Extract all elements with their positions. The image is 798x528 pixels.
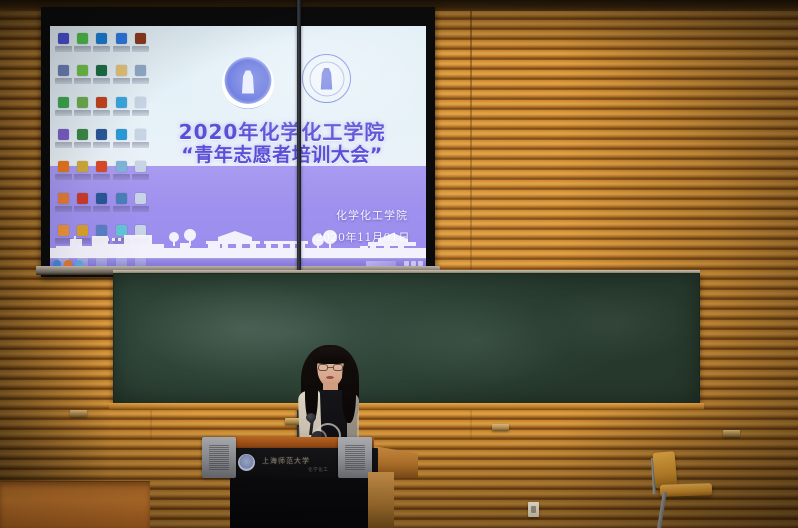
slide-heading-block: 2020年化学化工学院 “青年志愿者培训大会”: [146, 122, 418, 166]
icon-caption: [113, 78, 130, 84]
visual-studio-icon[interactable]: [92, 158, 111, 190]
word-2013-icon[interactable]: [92, 190, 111, 222]
cloud-sync-icon[interactable]: [112, 126, 131, 158]
powerpoint-icon[interactable]: [92, 94, 111, 126]
icon-glyph: [135, 65, 146, 76]
icon-caption: [55, 174, 72, 180]
icon-glyph: [116, 33, 127, 44]
icon-glyph: [116, 193, 127, 204]
icon-glyph: [135, 161, 146, 172]
firefox-icon[interactable]: [54, 158, 73, 190]
download-manager-icon[interactable]: [73, 62, 92, 94]
icon-caption: [55, 78, 72, 84]
pdf-reader-icon[interactable]: [54, 126, 73, 158]
icon-glyph: [96, 161, 107, 172]
eyeglasses: [318, 364, 343, 371]
fireworks-icon[interactable]: [73, 158, 92, 190]
icon-glyph: [96, 97, 107, 108]
icon-glyph: [116, 65, 127, 76]
icon-glyph: [58, 161, 69, 172]
icon-glyph: [58, 97, 69, 108]
icon-glyph: [135, 33, 146, 44]
university-seal-icon: [238, 454, 255, 471]
wall-power-outlet[interactable]: [528, 502, 539, 517]
icon-glyph: [58, 33, 69, 44]
icon-caption: [93, 110, 110, 116]
icon-caption: [74, 206, 91, 212]
icon-glyph: [135, 97, 146, 108]
icon-caption: [132, 110, 149, 116]
lectern[interactable]: 上海师范大学 化学化工: [202, 432, 402, 528]
icon-caption: [132, 46, 149, 52]
lecture-hall-photo: 2020年化学化工学院 “青年志愿者培训大会” 化学化工学院 2020年11月0…: [0, 0, 798, 528]
wall-bracket: [492, 424, 509, 431]
chair-front-leg: [657, 492, 667, 528]
lectern-body-side: [368, 472, 394, 528]
icon-caption: [113, 174, 130, 180]
blank-icon[interactable]: [131, 190, 150, 222]
icon-caption: [93, 46, 110, 52]
campus-skyline-silhouette: [50, 222, 426, 258]
icon-caption: [74, 142, 91, 148]
speaker-left: [202, 437, 236, 478]
wooden-floor: [0, 482, 150, 528]
tencent-qq-icon[interactable]: [112, 94, 131, 126]
icon-caption: [132, 78, 149, 84]
icon-caption: [113, 110, 130, 116]
slide-heading-line1: 2020年化学化工学院: [146, 122, 418, 144]
hair-fringe: [313, 347, 348, 364]
icon-caption: [93, 78, 110, 84]
icon-glyph: [58, 193, 69, 204]
icon-glyph: [96, 65, 107, 76]
icon-caption: [93, 174, 110, 180]
icon-glyph: [58, 129, 69, 140]
icon-glyph: [77, 129, 88, 140]
icon-caption: [132, 174, 149, 180]
lectern-body: [230, 478, 376, 528]
icon-glyph: [77, 193, 88, 204]
icon-caption: [74, 46, 91, 52]
speaker-right: [338, 437, 372, 478]
icon-glyph: [116, 161, 127, 172]
slide-heading-line2: “青年志愿者培训大会”: [146, 145, 418, 167]
icon-glyph: [135, 193, 146, 204]
icon-caption: [113, 142, 130, 148]
hair-strand-right: [342, 361, 356, 423]
chalk-ledge: [109, 403, 704, 410]
icon-caption: [113, 206, 130, 212]
icon-caption: [55, 206, 72, 212]
gallery-icon[interactable]: [73, 94, 92, 126]
icon-glyph: [96, 193, 107, 204]
icon-glyph: [135, 129, 146, 140]
lectern-plaque-subtext: 化学化工: [308, 467, 328, 473]
projection-screen-frame: 2020年化学化工学院 “青年志愿者培训大会” 化学化工学院 2020年11月0…: [41, 7, 435, 277]
icon-caption: [113, 46, 130, 52]
icon-glyph: [96, 129, 107, 140]
wooden-folding-chair[interactable]: [648, 452, 778, 528]
icon-caption: [93, 142, 110, 148]
icon-caption: [132, 206, 149, 212]
media-player-icon[interactable]: [131, 30, 150, 62]
cdr-icon[interactable]: [54, 30, 73, 62]
text-editor-icon[interactable]: [54, 62, 73, 94]
display-settings-icon[interactable]: [131, 62, 150, 94]
microphone-head-icon: [306, 413, 316, 422]
dreamweaver-icon[interactable]: [73, 126, 92, 158]
photo-viewer-icon[interactable]: [54, 190, 73, 222]
wallpaper-icon[interactable]: [112, 190, 131, 222]
emoji-app-icon[interactable]: [112, 62, 131, 94]
icon-caption: [74, 110, 91, 116]
icon-glyph: [116, 97, 127, 108]
icon-caption: [74, 78, 91, 84]
green-chalkboard: [113, 273, 700, 404]
icon-glyph: [77, 33, 88, 44]
chemistry-college-seal: [302, 54, 351, 103]
chair-backrest: [652, 451, 677, 489]
icon-caption: [93, 206, 110, 212]
normal-university-seal: [222, 57, 274, 109]
wps-office-icon[interactable]: [112, 30, 131, 62]
wechat-icon[interactable]: [73, 30, 92, 62]
icon-glyph: [116, 129, 127, 140]
photoshop-icon[interactable]: [92, 30, 111, 62]
lips: [326, 376, 334, 379]
icon-caption: [55, 142, 72, 148]
search-tool-icon[interactable]: [112, 158, 131, 190]
slide-organization: 化学化工学院: [336, 207, 408, 223]
icon-caption: [55, 46, 72, 52]
excel-icon[interactable]: [92, 62, 111, 94]
icon-caption: [74, 174, 91, 180]
wall-bracket: [70, 410, 87, 417]
pdf-editor-icon[interactable]: [73, 190, 92, 222]
icon-glyph: [58, 65, 69, 76]
chalk-residue: [114, 274, 699, 403]
security-shield-icon[interactable]: [54, 94, 73, 126]
lectern-plaque-text: 上海师范大学: [262, 456, 310, 466]
icon-glyph: [77, 161, 88, 172]
wall-bracket: [723, 430, 740, 437]
projection-screen-surface[interactable]: 2020年化学化工学院 “青年志愿者培训大会” 化学化工学院 2020年11月0…: [50, 26, 426, 269]
chair-seat: [660, 483, 712, 497]
word-icon[interactable]: [92, 126, 111, 158]
icon-glyph: [77, 65, 88, 76]
icon-caption: [55, 110, 72, 116]
icon-glyph: [96, 33, 107, 44]
icon-glyph: [77, 97, 88, 108]
